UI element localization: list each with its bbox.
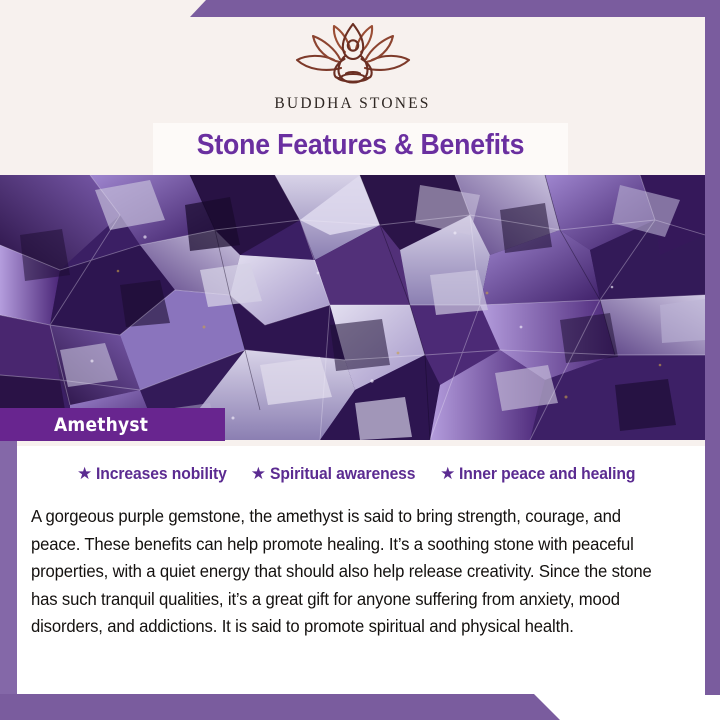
lotus-meditation-icon [278, 22, 428, 90]
product-feature-card: BUDDHA STONES Stone Features & Benefits [0, 0, 720, 720]
frame-accent-top [190, 0, 720, 17]
benefit-item: ★ Spiritual awareness [251, 465, 423, 484]
card-header: BUDDHA STONES Stone Features & Benefits [0, 0, 705, 175]
amethyst-photo-illustration [0, 175, 705, 440]
star-icon: ★ [77, 465, 92, 482]
stone-name-badge: Amethyst [0, 408, 225, 441]
stone-name: Amethyst [54, 414, 148, 436]
star-icon: ★ [440, 465, 455, 482]
star-icon: ★ [251, 465, 266, 482]
benefit-label: Inner peace and healing [459, 465, 635, 484]
benefit-item: ★ Inner peace and healing [440, 465, 645, 484]
page-title-card: Stone Features & Benefits [153, 123, 568, 175]
page-title: Stone Features & Benefits [170, 129, 552, 162]
benefit-label: Spiritual awareness [270, 465, 415, 484]
frame-accent-right [705, 0, 720, 695]
stone-description: A gorgeous purple gemstone, the amethyst… [31, 503, 671, 641]
brand-logo: BUDDHA STONES [0, 22, 705, 113]
content-panel: ★ Increases nobility ★ Spiritual awarene… [17, 446, 705, 694]
frame-accent-bottom [0, 694, 560, 720]
amethyst-photo [0, 175, 705, 440]
benefit-label: Increases nobility [96, 465, 227, 484]
benefits-list: ★ Increases nobility ★ Spiritual awarene… [17, 465, 705, 484]
benefit-item: ★ Increases nobility [77, 465, 234, 484]
brand-name: BUDDHA STONES [274, 95, 430, 113]
frame-accent-left [0, 420, 17, 700]
